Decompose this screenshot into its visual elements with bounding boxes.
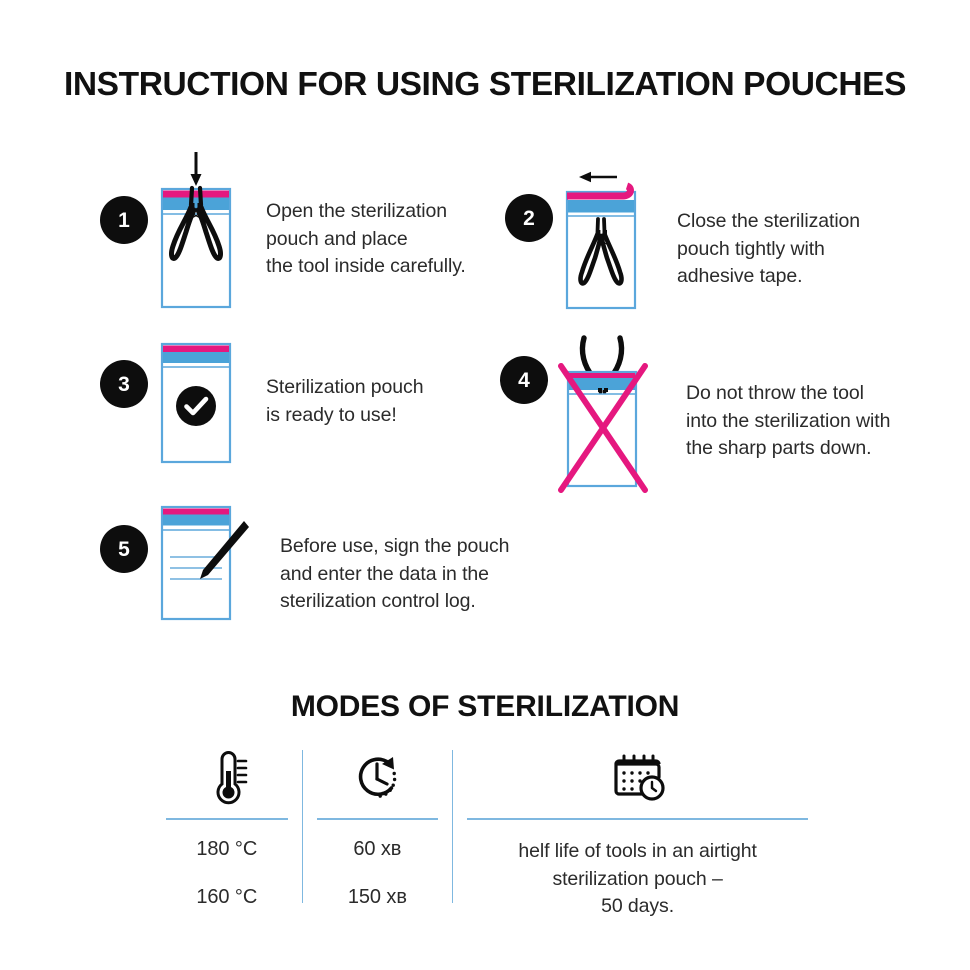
arrow-down-icon [191,152,202,186]
page-title: INSTRUCTION FOR USING STERILIZATION POUC… [0,66,970,104]
pouch-sealed-with-tape-figure [553,166,649,317]
clock-icon [349,751,405,807]
calendar-clock-icon-wrap [610,748,666,810]
mode-column-temperature: 180 °C 160 °C [152,748,302,921]
steps-section: 1 [0,138,970,648]
modes-section: 180 °C 160 °C [152,748,822,921]
step-number-badge-1: 1 [100,196,148,244]
thermometer-icon-wrap [205,748,249,810]
step-text-1: Open the sterilization pouch and place t… [266,198,466,281]
step-number-badge-5: 5 [100,525,148,573]
mode-value-time-1: 60 хв [353,838,401,860]
step-text-3: Sterilization pouch is ready to use! [266,374,423,429]
step-text-2: Close the sterilization pouch tightly wi… [677,208,860,291]
mode-rule-temperature [166,818,288,820]
mode-value-time-2: 150 хв [348,886,407,908]
step-item-2: 2 [505,166,860,317]
pouch-wrong-tool-direction-icon [548,328,658,493]
mode-rule-shelf-life [467,818,808,820]
step-item-5: 5 Before use, sign the pouch and ent [100,503,509,630]
pouch-ready-check-icon [148,338,244,468]
pouch-wrong-tool-direction-figure [548,328,658,498]
mode-note-shelf-life: helf life of tools in an airtight steril… [518,838,756,921]
pouch-ready-check-figure [148,338,244,473]
mode-column-time: 60 хв 150 хв [303,748,453,921]
step-item-3: 3 Sterilization pouch is ready to use! [100,338,423,473]
mode-column-shelf-life: helf life of tools in an airtight steril… [453,748,822,921]
modes-section-title: MODES OF STERILIZATION [0,690,970,724]
step-text-5: Before use, sign the pouch and enter the… [280,533,509,616]
pouch-sign-with-pen-figure [148,503,258,630]
pouch-open-with-tool-icon [148,148,244,312]
step-item-1: 1 [100,148,466,317]
clock-icon-wrap [349,748,405,810]
mode-value-temperature-1: 180 °C [196,838,257,860]
mode-rule-time [317,818,439,820]
step-text-4: Do not throw the tool into the steriliza… [686,380,890,463]
mode-value-temperature-2: 160 °C [196,886,257,908]
step-number-badge-3: 3 [100,360,148,408]
step-item-4: 4 [500,328,890,498]
thermometer-icon [205,751,249,807]
calendar-clock-icon [610,752,666,806]
pouch-open-with-tool-figure [148,148,244,317]
step-number-badge-4: 4 [500,356,548,404]
check-circle-icon [176,386,216,426]
step-number-badge-2: 2 [505,194,553,242]
pouch-sealed-with-tape-icon [553,166,649,312]
pouch-sign-with-pen-icon [148,503,258,625]
arrow-left-icon [579,172,617,182]
